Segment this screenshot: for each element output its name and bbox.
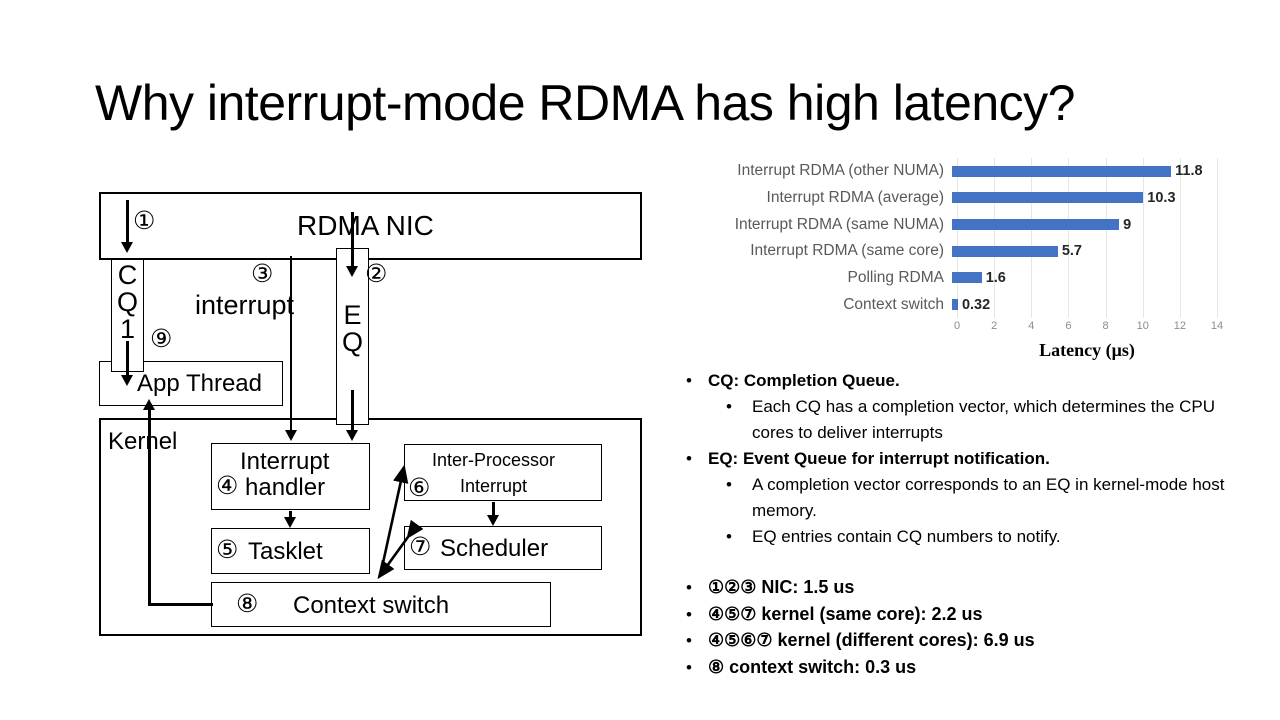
- chart-bar: [952, 246, 1058, 257]
- arrow-ipi-to-scheduler-head: [487, 515, 499, 526]
- chart-bar-wrapper: 0.32: [952, 291, 1212, 318]
- chart-x-axis-title: Latency (μs): [957, 340, 1217, 361]
- chart-bar: [952, 219, 1119, 230]
- chart-bar-wrapper: 1.6: [952, 265, 1212, 292]
- chart-x-tick: 6: [1065, 320, 1071, 332]
- eq-letter-e: E: [336, 302, 369, 329]
- app-thread-label: App Thread: [137, 370, 262, 398]
- chart-bar-rows: Interrupt RDMA (other NUMA)11.8Interrupt…: [680, 158, 1220, 318]
- bullet-marker-icon: •: [726, 394, 752, 419]
- chart-x-tick: 8: [1103, 320, 1109, 332]
- chart-x-tick: 0: [954, 320, 960, 332]
- chart-x-tick: 10: [1137, 320, 1149, 332]
- chart-row: Interrupt RDMA (average)10.3: [680, 185, 1220, 212]
- chart-category-label: Interrupt RDMA (other NUMA): [680, 162, 952, 180]
- interrupt-handler-label-line1: Interrupt: [240, 448, 329, 476]
- arrow-handler-to-tasklet-head: [284, 517, 296, 528]
- chart-value-label: 1.6: [986, 270, 1006, 286]
- bullet-item: •CQ: Completion Queue.: [686, 368, 1246, 393]
- cq-letter-c: C: [111, 262, 144, 289]
- bullet-item: •Each CQ has a completion vector, which …: [686, 394, 1246, 445]
- arrow-eq-exit-head: [346, 430, 358, 441]
- ipi-label-line2: Interrupt: [460, 476, 527, 497]
- rdma-nic-label: RDMA NIC: [297, 210, 434, 242]
- bullet-text: EQ: Event Queue for interrupt notificati…: [708, 446, 1050, 471]
- arrow-1-shaft: [126, 200, 129, 245]
- chart-row: Interrupt RDMA (same NUMA)9: [680, 211, 1220, 238]
- chart-value-label: 11.8: [1175, 163, 1202, 179]
- timing-bullet-text: ⑧ context switch: 0.3 us: [708, 655, 916, 681]
- marker-9: ⑨: [150, 327, 172, 352]
- marker-8: ⑧: [236, 592, 258, 617]
- tasklet-label: Tasklet: [248, 538, 323, 566]
- chart-value-label: 0.32: [962, 297, 990, 313]
- chart-bar: [952, 299, 958, 310]
- bullet-text: Each CQ has a completion vector, which d…: [752, 394, 1246, 445]
- bullet-text: EQ entries contain CQ numbers to notify.: [752, 524, 1061, 550]
- bullet-item: •EQ: Event Queue for interrupt notificat…: [686, 446, 1246, 471]
- interrupt-handler-label-line2: handler: [245, 474, 325, 502]
- chart-x-tick: 2: [991, 320, 997, 332]
- chart-bar-wrapper: 11.8: [952, 158, 1212, 185]
- arrow-2-head: [346, 266, 358, 277]
- timing-bullet-item: •⑧ context switch: 0.3 us: [686, 655, 1246, 681]
- timing-bullet-item: •①②③ NIC: 1.5 us: [686, 575, 1246, 601]
- arrow-1-head: [121, 242, 133, 253]
- chart-bar: [952, 192, 1143, 203]
- chart-category-label: Interrupt RDMA (average): [680, 189, 952, 207]
- arrow-8-vertical: [148, 409, 151, 605]
- chart-x-tick: 12: [1174, 320, 1186, 332]
- arrow-8-head: [143, 399, 155, 410]
- scheduler-label: Scheduler: [440, 535, 548, 563]
- chart-x-tick: 14: [1211, 320, 1223, 332]
- chart-x-axis: 02468101214: [957, 318, 1217, 336]
- interrupt-label: interrupt: [195, 290, 294, 321]
- timing-bullet-text: ①②③ NIC: 1.5 us: [708, 575, 854, 601]
- cq-letter-q: Q: [111, 289, 144, 316]
- bullet-marker-icon: •: [686, 602, 708, 627]
- bullet-marker-icon: •: [686, 655, 708, 680]
- chart-category-label: Interrupt RDMA (same NUMA): [680, 216, 952, 234]
- marker-3: ③: [251, 262, 273, 287]
- bullet-marker-icon: •: [686, 446, 708, 471]
- timing-bullet-text: ④⑤⑥⑦ kernel (different cores): 6.9 us: [708, 628, 1035, 654]
- bullet-marker-icon: •: [726, 524, 752, 549]
- bullet-text: CQ: Completion Queue.: [708, 368, 900, 393]
- bullet-item: •A completion vector corresponds to an E…: [686, 472, 1246, 523]
- arrow-8-horizontal: [148, 603, 213, 606]
- chart-row: Polling RDMA1.6: [680, 265, 1220, 292]
- chart-row: Context switch0.32: [680, 291, 1220, 318]
- arrow-eq-exit-shaft: [351, 390, 354, 435]
- arrow-7-diagonal: [360, 525, 430, 590]
- chart-category-label: Interrupt RDMA (same core): [680, 242, 952, 260]
- chart-value-label: 9: [1123, 217, 1131, 233]
- chart-value-label: 5.7: [1062, 243, 1082, 259]
- chart-bar: [952, 166, 1171, 177]
- ipi-label-line1: Inter-Processor: [432, 450, 555, 471]
- marker-2: ②: [365, 262, 387, 287]
- chart-row: Interrupt RDMA (same core)5.7: [680, 238, 1220, 265]
- chart-category-label: Context switch: [680, 296, 952, 314]
- chart-bar-wrapper: 9: [952, 211, 1212, 238]
- cq1-letters: C Q 1: [111, 262, 144, 343]
- chart-bar-wrapper: 10.3: [952, 185, 1212, 212]
- arrow-3-shaft: [290, 256, 292, 434]
- bullet-list-definitions: •CQ: Completion Queue.•Each CQ has a com…: [686, 368, 1246, 551]
- rdma-flow-diagram: RDMA NIC Kernel App Thread C Q 1 E Q int…: [0, 0, 680, 720]
- bullet-marker-icon: •: [726, 472, 752, 497]
- marker-1: ①: [133, 209, 155, 234]
- arrow-9-head: [121, 375, 133, 386]
- bullet-list-timings: •①②③ NIC: 1.5 us•④⑤⑦ kernel (same core):…: [686, 575, 1246, 681]
- arrow-3-head: [285, 430, 297, 441]
- context-switch-label: Context switch: [293, 592, 449, 620]
- arrow-9-shaft: [126, 341, 129, 379]
- marker-5: ⑤: [216, 538, 238, 563]
- chart-row: Interrupt RDMA (other NUMA)11.8: [680, 158, 1220, 185]
- timing-bullet-item: •④⑤⑥⑦ kernel (different cores): 6.9 us: [686, 628, 1246, 654]
- bullet-marker-icon: •: [686, 628, 708, 653]
- arrow-2-shaft: [351, 212, 354, 270]
- bullet-item: •EQ entries contain CQ numbers to notify…: [686, 524, 1246, 550]
- chart-category-label: Polling RDMA: [680, 269, 952, 287]
- cq-letter-1: 1: [111, 316, 144, 343]
- timing-bullet-text: ④⑤⑦ kernel (same core): 2.2 us: [708, 602, 983, 628]
- timing-bullet-item: •④⑤⑦ kernel (same core): 2.2 us: [686, 602, 1246, 628]
- eq-letters: E Q: [336, 302, 369, 356]
- eq-letter-q: Q: [336, 329, 369, 356]
- latency-bar-chart: Interrupt RDMA (other NUMA)11.8Interrupt…: [680, 158, 1240, 368]
- chart-value-label: 10.3: [1147, 190, 1175, 206]
- marker-4: ④: [216, 474, 238, 499]
- chart-bar: [952, 272, 982, 283]
- chart-x-tick: 4: [1028, 320, 1034, 332]
- kernel-label: Kernel: [108, 428, 177, 456]
- bullet-text: A completion vector corresponds to an EQ…: [752, 472, 1246, 523]
- bullet-marker-icon: •: [686, 368, 708, 393]
- chart-bar-wrapper: 5.7: [952, 238, 1212, 265]
- bullet-marker-icon: •: [686, 575, 708, 600]
